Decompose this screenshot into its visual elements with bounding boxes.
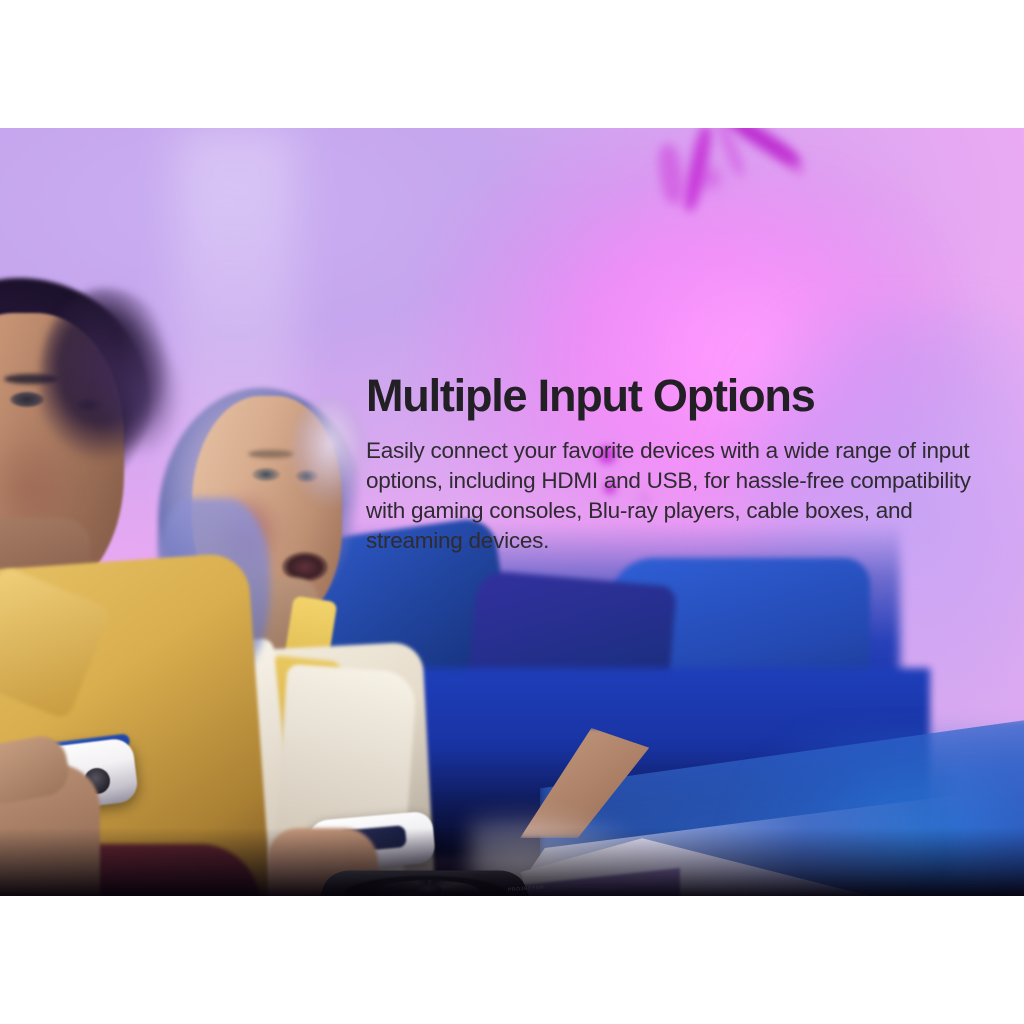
page-description: Easily connect your favorite devices wit… (366, 436, 978, 556)
top-white-band (0, 0, 1024, 128)
page-title: Multiple Input Options (366, 370, 986, 422)
bottom-white-band (0, 896, 1024, 1024)
light-streak (700, 168, 720, 188)
person-right-eyebrow (248, 450, 294, 458)
page-root: AV IN USB HDMI DC IN SD CARD AUDIO OUT P… (0, 0, 1024, 1024)
marketing-copy-block: Multiple Input Options Easily connect yo… (366, 370, 986, 556)
scene-bottom-vignette (0, 828, 1024, 896)
person-right-hair-front (290, 396, 370, 516)
person-left-hair-curl (96, 328, 182, 458)
person-right-eye (252, 468, 280, 481)
person-left-eye (10, 392, 44, 407)
hero-banner-image: AV IN USB HDMI DC IN SD CARD AUDIO OUT P… (0, 128, 1024, 896)
